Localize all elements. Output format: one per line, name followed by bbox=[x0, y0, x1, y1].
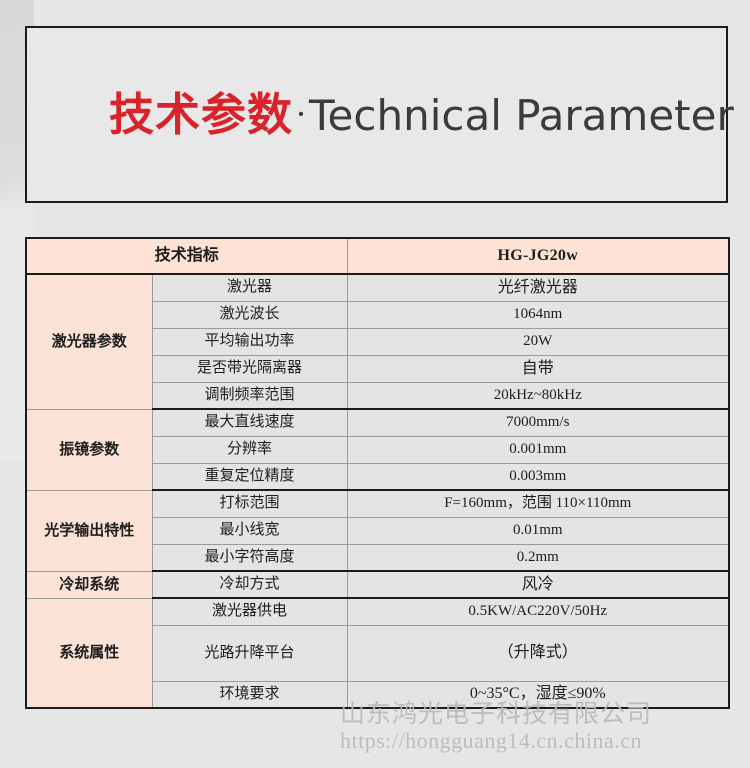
page-title-chinese: 技术参数 bbox=[109, 88, 293, 141]
title-separator-dot: · bbox=[293, 94, 309, 134]
value-cell: 自带 bbox=[347, 355, 729, 382]
value-cell: 20kHz~80kHz bbox=[347, 382, 729, 409]
item-cell: 激光器 bbox=[152, 274, 347, 301]
watermark-url: https://hongguang14.cn.china.cn bbox=[340, 728, 642, 754]
item-cell: 重复定位精度 bbox=[152, 463, 347, 490]
item-cell: 平均输出功率 bbox=[152, 328, 347, 355]
value-cell: 0.003mm bbox=[347, 463, 729, 490]
item-cell: 激光器供电 bbox=[152, 598, 347, 625]
value-cell: 0.001mm bbox=[347, 436, 729, 463]
title-banner: 技术参数·Technical Parameter bbox=[25, 26, 728, 203]
item-cell: 分辨率 bbox=[152, 436, 347, 463]
value-cell: 7000mm/s bbox=[347, 409, 729, 436]
value-cell: 0~35°C，湿度≤90% bbox=[347, 681, 729, 708]
value-cell: 0.01mm bbox=[347, 517, 729, 544]
item-cell: 环境要求 bbox=[152, 681, 347, 708]
table-row: 系统属性激光器供电0.5KW/AC220V/50Hz bbox=[26, 598, 729, 625]
header-cell-model: HG-JG20w bbox=[347, 238, 729, 274]
page-title-english: Technical Parameter bbox=[309, 91, 734, 140]
value-cell: 光纤激光器 bbox=[347, 274, 729, 301]
value-cell: 0.2mm bbox=[347, 544, 729, 571]
header-cell-indicator: 技术指标 bbox=[26, 238, 347, 274]
item-cell: 最大直线速度 bbox=[152, 409, 347, 436]
item-cell: 冷却方式 bbox=[152, 571, 347, 598]
item-cell: 调制频率范围 bbox=[152, 382, 347, 409]
value-cell: 1064nm bbox=[347, 301, 729, 328]
item-cell: 最小线宽 bbox=[152, 517, 347, 544]
table-row: 光学输出特性打标范围F=160mm，范围 110×110mm bbox=[26, 490, 729, 517]
table-row: 激光器参数激光器光纤激光器 bbox=[26, 274, 729, 301]
table-row: 振镜参数最大直线速度7000mm/s bbox=[26, 409, 729, 436]
technical-parameter-table: 技术指标HG-JG20w激光器参数激光器光纤激光器激光波长1064nm平均输出功… bbox=[25, 237, 730, 709]
item-cell: 激光波长 bbox=[152, 301, 347, 328]
value-cell: （升降式） bbox=[347, 625, 729, 681]
group-cell-4: 系统属性 bbox=[26, 598, 152, 708]
item-cell: 是否带光隔离器 bbox=[152, 355, 347, 382]
group-cell-2: 光学输出特性 bbox=[26, 490, 152, 571]
value-cell: 0.5KW/AC220V/50Hz bbox=[347, 598, 729, 625]
value-cell: 风冷 bbox=[347, 571, 729, 598]
item-cell: 最小字符高度 bbox=[152, 544, 347, 571]
item-cell: 打标范围 bbox=[152, 490, 347, 517]
table-header-row: 技术指标HG-JG20w bbox=[26, 238, 729, 274]
table-row: 冷却系统冷却方式风冷 bbox=[26, 571, 729, 598]
value-cell: 20W bbox=[347, 328, 729, 355]
page-title: 技术参数·Technical Parameter bbox=[109, 92, 734, 137]
group-cell-3: 冷却系统 bbox=[26, 571, 152, 598]
group-cell-1: 振镜参数 bbox=[26, 409, 152, 490]
group-cell-0: 激光器参数 bbox=[26, 274, 152, 409]
spec-table-container: 技术指标HG-JG20w激光器参数激光器光纤激光器激光波长1064nm平均输出功… bbox=[25, 237, 728, 709]
value-cell: F=160mm，范围 110×110mm bbox=[347, 490, 729, 517]
item-cell: 光路升降平台 bbox=[152, 625, 347, 681]
